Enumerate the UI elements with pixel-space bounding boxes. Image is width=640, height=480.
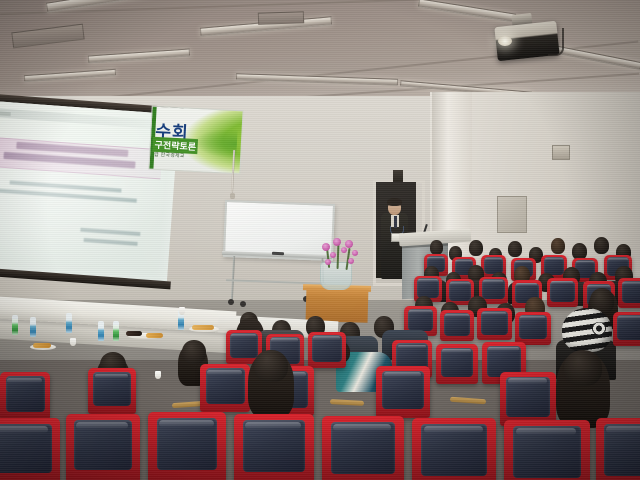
bottle-cap: [113, 321, 119, 325]
door-top-panel: [393, 170, 403, 182]
auditorium-seat[interactable]: [376, 366, 430, 418]
seat-highlight: [455, 260, 472, 262]
seat-highlight: [398, 345, 426, 349]
seat-highlight: [576, 261, 594, 263]
slide-header-accent: [0, 111, 11, 116]
snack-food: [192, 325, 214, 330]
audience-head: [430, 240, 443, 255]
water-bottle: [113, 324, 119, 341]
auditorium-seat[interactable]: [66, 414, 140, 480]
audience-head: [182, 340, 206, 364]
seat-highlight: [313, 336, 340, 340]
auditorium-seat[interactable]: [500, 372, 556, 426]
auditorium-seat[interactable]: [412, 418, 496, 480]
orchid-flower: [341, 247, 347, 253]
seat-highlight: [424, 426, 483, 433]
seat-highlight: [271, 338, 298, 342]
auditorium-seat[interactable]: [477, 308, 512, 340]
bottle-cap: [98, 321, 104, 325]
seat-highlight: [482, 312, 507, 315]
snack-food: [33, 343, 51, 348]
auditorium-seat[interactable]: [440, 310, 474, 341]
seat-highlight: [551, 281, 573, 284]
projector-cable: [548, 28, 564, 56]
auditorium-seat[interactable]: [88, 368, 136, 414]
seat-highlight: [606, 426, 640, 433]
auditorium-seat[interactable]: [613, 312, 640, 346]
seat-highlight: [333, 424, 390, 431]
water-bottle: [178, 313, 184, 330]
seat-highlight: [76, 422, 128, 429]
slide-attribution-line-1: [80, 228, 140, 236]
seat-highlight: [427, 257, 444, 259]
banner-swoosh-accent: [192, 127, 238, 159]
orchid-flower: [348, 258, 354, 264]
orchid-flower: [322, 243, 330, 251]
snack-food: [146, 333, 163, 338]
seat-highlight: [159, 420, 214, 427]
bottle-cap: [30, 317, 36, 321]
water-bottle: [66, 316, 72, 333]
audience-head: [594, 237, 609, 254]
snack-food: [126, 331, 142, 336]
seat-highlight: [384, 372, 422, 377]
seat-highlight: [445, 314, 469, 317]
auditorium-seat[interactable]: [618, 278, 640, 308]
foreground-head: [254, 350, 288, 382]
auditorium-seat[interactable]: [436, 344, 478, 384]
seat-highlight: [587, 285, 609, 288]
water-bottle: [12, 318, 18, 335]
water-bottle: [30, 320, 36, 337]
orchid-flower: [333, 238, 341, 246]
auditorium-seat[interactable]: [322, 416, 404, 480]
seat-highlight: [520, 316, 545, 319]
water-bottle: [98, 324, 104, 341]
bottle-cap: [66, 313, 72, 317]
seat-highlight: [488, 347, 519, 351]
bottle-cap: [12, 315, 18, 319]
seat-highlight: [409, 310, 432, 313]
speaker-hair: [387, 198, 402, 206]
auditorium-seat[interactable]: [547, 278, 578, 307]
auditorium-seat[interactable]: [596, 418, 640, 480]
seat-highlight: [516, 428, 576, 435]
seat-highlight: [622, 282, 640, 285]
projector-lens-icon: [498, 36, 512, 46]
auditorium-seat[interactable]: [200, 364, 250, 412]
wall-banner: 수회 구전략토론 급 한국경제교: [148, 106, 243, 175]
striped-beanie-crown-swirl: [592, 322, 606, 335]
seat-armrest: [330, 399, 364, 406]
whiteboard-caster: [240, 301, 246, 307]
slide-header-band: [0, 108, 167, 129]
auditorium-seat[interactable]: [0, 372, 50, 420]
audience-head: [469, 240, 483, 256]
orchid-flower: [352, 250, 358, 256]
whiteboard-marker-icon: [272, 252, 284, 255]
auditorium-seat[interactable]: [515, 312, 551, 345]
seat-highlight: [95, 374, 129, 379]
auditorium-seat[interactable]: [504, 420, 590, 480]
auditorium-seat[interactable]: [234, 414, 314, 480]
seat-highlight: [450, 282, 470, 285]
seat-highlight: [0, 426, 48, 433]
banner-rod-knob: [230, 193, 235, 199]
ceiling-air-vent: [258, 11, 304, 25]
auditorium-seat[interactable]: [308, 332, 346, 368]
seat-highlight: [483, 280, 503, 283]
seat-highlight: [515, 261, 533, 263]
seat-highlight: [545, 258, 563, 260]
seat-highlight: [231, 334, 256, 337]
audience-head: [551, 238, 565, 254]
auditorium-seat[interactable]: [0, 418, 60, 480]
wall-panel: [497, 196, 527, 233]
orchid-flower: [345, 240, 353, 248]
foreground-head: [564, 350, 602, 386]
auditorium-seat[interactable]: [148, 412, 226, 480]
wall-speaker-icon: [552, 145, 570, 160]
orchid-flower: [325, 259, 331, 265]
seat-highlight: [508, 378, 547, 383]
slide-attribution-line-2: [84, 238, 138, 246]
lecture-hall-photo: 마케팅전략 수회 구전략토론 급 한국경제교: [0, 0, 640, 480]
seat-highlight: [485, 258, 503, 260]
banner-caption-text: 급 한국경제교: [154, 151, 185, 160]
whiteboard-caster: [228, 299, 234, 305]
orchid-flower: [330, 252, 336, 258]
seat-highlight: [418, 279, 438, 282]
seat-highlight: [516, 283, 537, 286]
seat-highlight: [608, 258, 628, 261]
seat-highlight: [618, 316, 640, 319]
seat-highlight: [442, 349, 471, 353]
audience-head: [508, 241, 522, 257]
seat-highlight: [207, 370, 242, 375]
seat-highlight: [245, 422, 301, 429]
paper-cup: [70, 338, 76, 346]
seat-armrest: [450, 397, 486, 404]
paper-cup: [155, 371, 161, 379]
paper-cup: [179, 307, 185, 315]
seat-highlight: [7, 378, 42, 383]
